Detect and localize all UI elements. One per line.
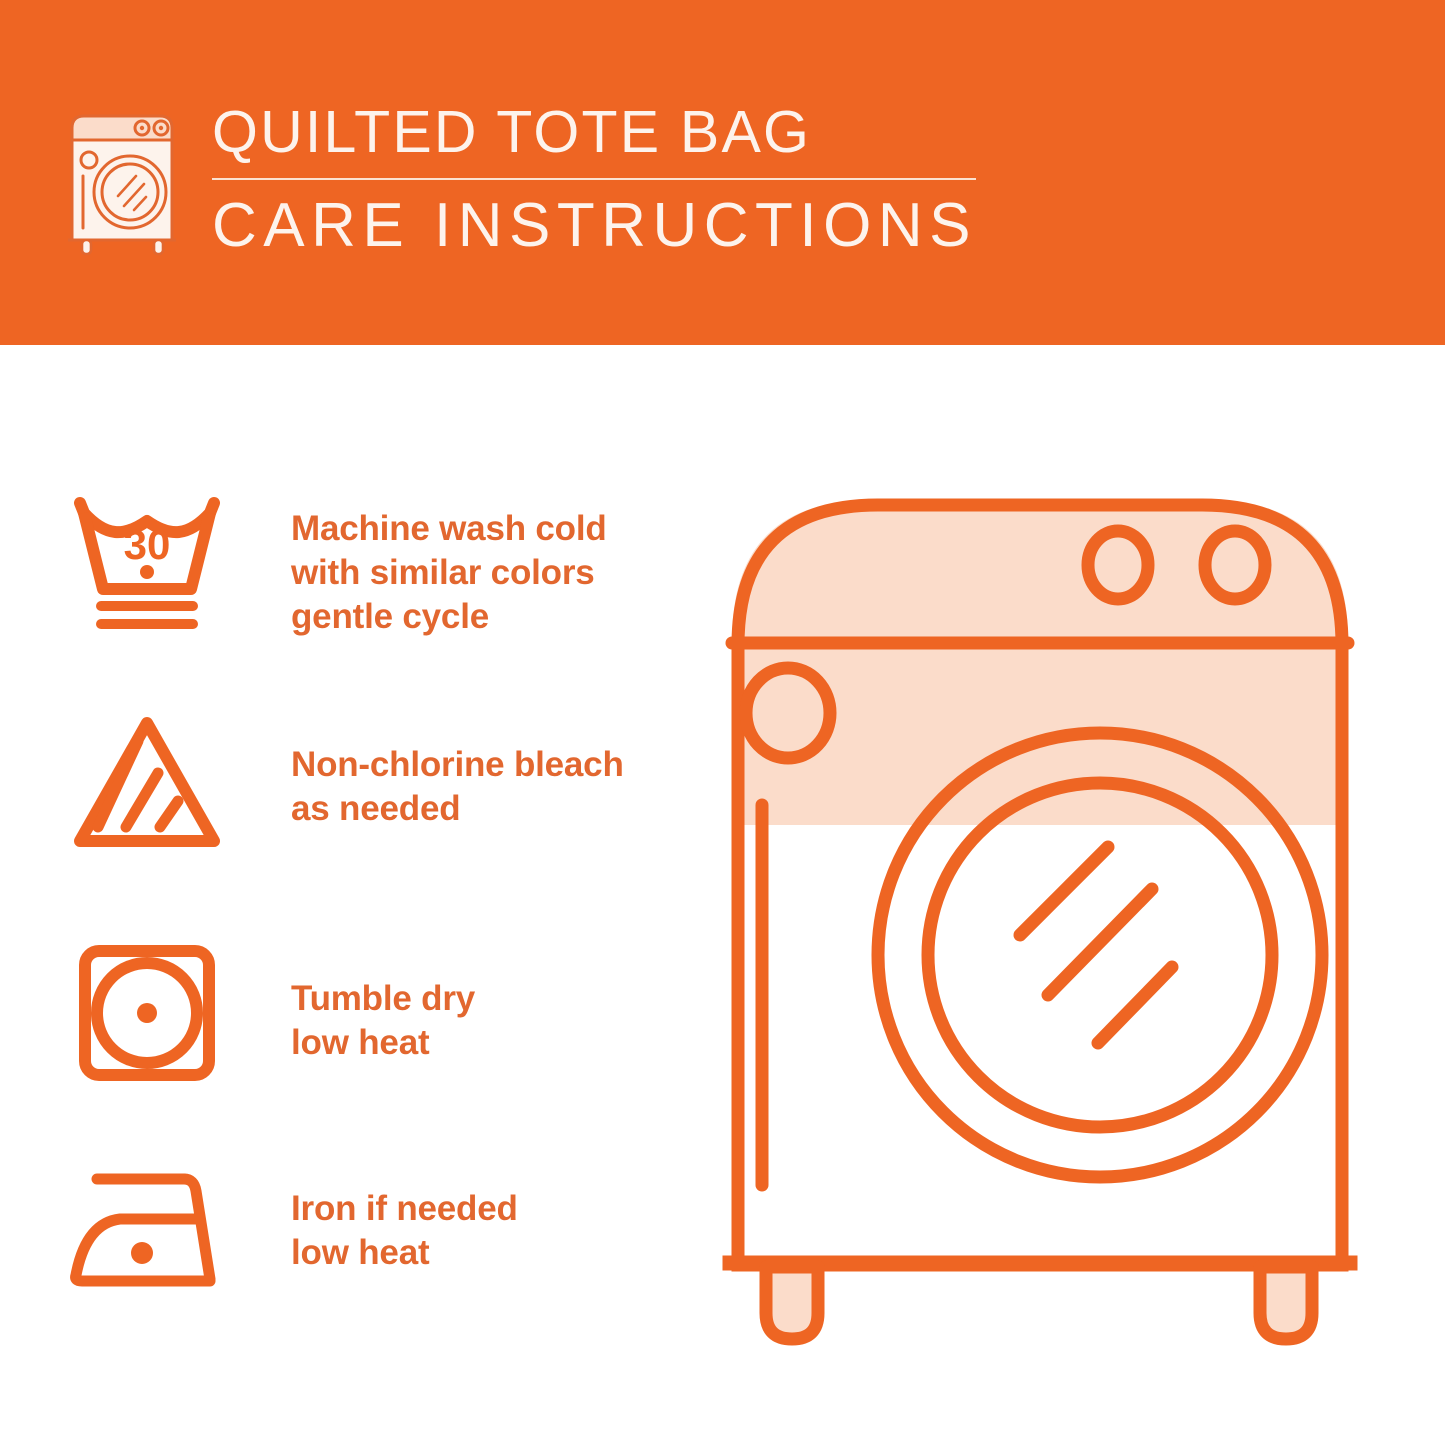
svg-text:30: 30 bbox=[124, 521, 171, 568]
tumble-dry-low-icon bbox=[62, 933, 232, 1093]
care-label-line: with similar colors bbox=[291, 551, 607, 595]
care-label-line: low heat bbox=[291, 1231, 518, 1275]
care-label-line: Iron if needed bbox=[291, 1187, 518, 1231]
care-label-iron: Iron if needed low heat bbox=[291, 1187, 518, 1275]
care-label-line: gentle cycle bbox=[291, 595, 607, 639]
care-label-line: Tumble dry bbox=[291, 977, 475, 1021]
non-chlorine-bleach-triangle-icon bbox=[62, 707, 232, 867]
door-inner-ring bbox=[928, 783, 1272, 1127]
header-banner: QUILTED TOTE BAG CARE INSTRUCTIONS bbox=[0, 0, 1445, 345]
header-title-block: QUILTED TOTE BAG CARE INSTRUCTIONS bbox=[212, 96, 1312, 264]
wash-tub-30-gentle-icon: 30 bbox=[62, 485, 232, 645]
care-label-bleach: Non-chlorine bleach as needed bbox=[291, 743, 624, 831]
leg-right bbox=[1260, 1267, 1312, 1339]
iron-low-heat-icon bbox=[62, 1153, 232, 1313]
washing-machine-icon bbox=[66, 104, 186, 256]
care-instructions-page: QUILTED TOTE BAG CARE INSTRUCTIONS 30 Ma… bbox=[0, 0, 1445, 1445]
door-shine-line-2 bbox=[1048, 889, 1152, 995]
front-load-washing-machine-illustration bbox=[700, 455, 1420, 1395]
door-shine-line-1 bbox=[1020, 847, 1108, 935]
page-subtitle: CARE INSTRUCTIONS bbox=[212, 188, 1312, 264]
care-label-wash: Machine wash cold with similar colors ge… bbox=[291, 507, 607, 639]
care-label-dry: Tumble dry low heat bbox=[291, 977, 475, 1065]
door-shine-line-3 bbox=[1098, 967, 1172, 1043]
care-label-line: Non-chlorine bleach bbox=[291, 743, 624, 787]
care-label-line: as needed bbox=[291, 787, 624, 831]
care-label-line: low heat bbox=[291, 1021, 475, 1065]
page-title: QUILTED TOTE BAG bbox=[212, 96, 1312, 168]
title-divider bbox=[212, 178, 976, 180]
care-label-line: Machine wash cold bbox=[291, 507, 607, 551]
care-instruction-list: 30 Machine wash cold with similar colors… bbox=[0, 345, 700, 1445]
leg-left bbox=[766, 1267, 818, 1339]
